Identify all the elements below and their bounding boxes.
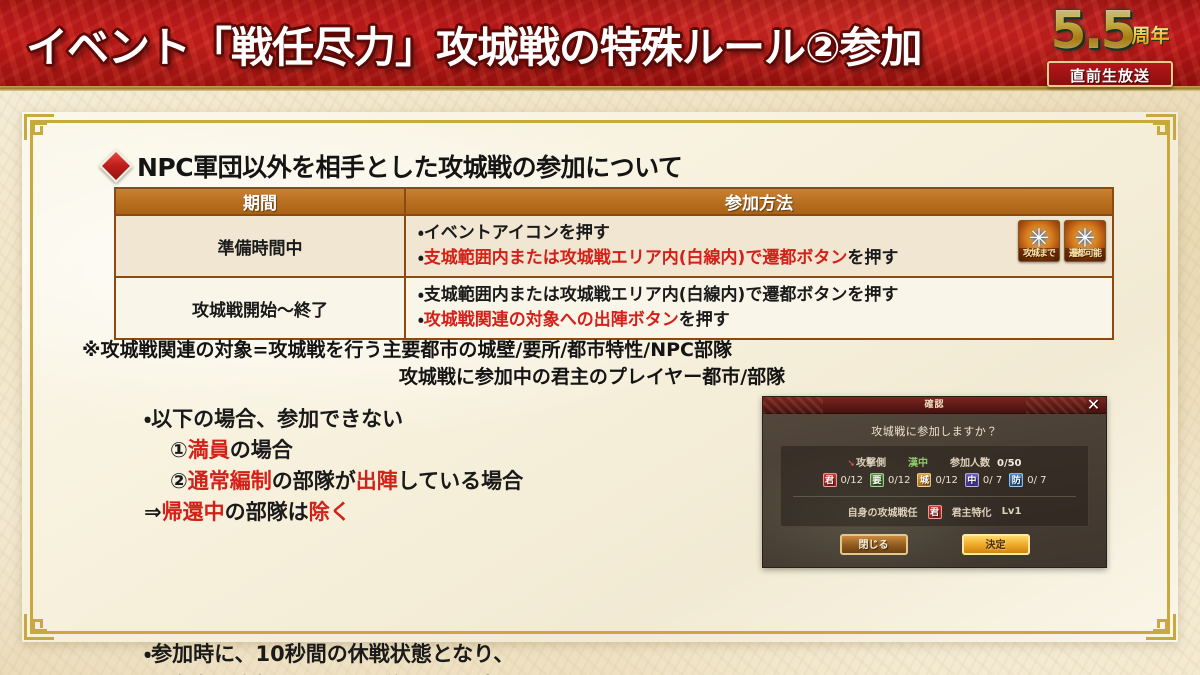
attack-side-group: ➘攻撃側: [847, 454, 886, 469]
frame-corner-top-left: [24, 114, 58, 144]
table-cell-method: ・イベントアイコンを押す・支城範囲内または攻城戦エリア内(白線内)で遷都ボタンを…: [405, 215, 1113, 277]
text-segment: 帰還中: [162, 500, 225, 524]
frame-corner-bottom-right: [1142, 610, 1176, 640]
text-segment: ②: [170, 469, 188, 493]
capital-move-ok-icon: ✳遷都可能: [1064, 220, 1106, 262]
table-cell-period: 準備時間中: [115, 215, 405, 277]
text-segment: ・支城範囲内または攻城戦エリア内(白線内)で遷都ボタンを押す: [418, 285, 898, 305]
table-note: ※攻城戦関連の対象=攻城戦を行う主要都市の城壁/要所/都市特性/NPC部隊 攻城…: [82, 337, 1062, 391]
dialog-stat-item: 防0/ 7: [1009, 473, 1046, 487]
table-icon-group: ✳攻城まで✳遷都可能: [1018, 220, 1106, 262]
rules-table: 期間 参加方法 準備時間中・イベントアイコンを押す・支城範囲内または攻城戦エリア…: [114, 187, 1114, 340]
text-segment: ⇒: [144, 500, 162, 524]
table-row: 準備時間中・イベントアイコンを押す・支城範囲内または攻城戦エリア内(白線内)で遷…: [115, 215, 1113, 277]
content-panel: NPC軍団以外を相手とした攻城戦の参加について 期間 参加方法 準備時間中・イベ…: [22, 112, 1178, 642]
text-segment: ・イベントアイコンを押す: [418, 223, 610, 243]
method-line: ・イベントアイコンを押す: [418, 221, 1104, 246]
text-segment: 除く: [309, 500, 351, 524]
method-line: ・攻城戦関連の対象への出陣ボタンを押す: [418, 308, 1104, 333]
role-icon: 君: [928, 505, 942, 519]
dialog-stats-row: 君0/12要0/12城0/12中0/ 7防0/ 7: [781, 473, 1088, 487]
table-cell-method: ・支城範囲内または攻城戦エリア内(白線内)で遷都ボタンを押す・攻城戦関連の対象へ…: [405, 277, 1113, 339]
page-title: イベント「戦任尽力」攻城戦の特殊ルール②参加: [26, 14, 922, 75]
text-segment: 満員: [188, 438, 230, 462]
dialog-titlebar: 確認: [763, 397, 1106, 414]
game-dialog-screenshot: 確認 ✕ 攻城戦に参加しますか？ ➘攻撃側 漢中 参加人数 0/50 君0/12…: [762, 396, 1107, 568]
section-heading: NPC軍団以外を相手とした攻城戦の参加について: [104, 148, 682, 184]
burst-glyph-icon: ✳: [1075, 225, 1096, 250]
stat-type-icon: 中: [965, 473, 979, 487]
text-segment: 通常編制: [188, 469, 272, 493]
stat-value: 0/12: [888, 475, 910, 486]
frame-corner-top-right: [1142, 114, 1176, 144]
stat-value: 0/12: [935, 475, 957, 486]
text-segment: ・以下の場合、参加できない: [144, 407, 403, 431]
game-icon-label: 攻城まで: [1019, 248, 1059, 261]
dialog-divider: [793, 496, 1076, 497]
table-note-line-2: 攻城戦に参加中の君主のプレイヤー都市/部隊: [82, 364, 1062, 391]
table-header-method: 参加方法: [405, 188, 1113, 215]
dialog-info-box: ➘攻撃側 漢中 参加人数 0/50 君0/12要0/12城0/12中0/ 7防0…: [780, 445, 1089, 527]
method-line: ・支城範囲内または攻城戦エリア内(白線内)で遷都ボタンを押す: [418, 246, 1104, 271]
role-name: 君主特化: [952, 504, 992, 519]
stat-type-icon: 君: [823, 473, 837, 487]
role-label: 自身の攻城戦任: [848, 504, 918, 519]
anniversary-logo: 5.5周年 直前生放送: [1026, 2, 1194, 87]
text-segment: 支城範囲内または攻城戦エリア内(白線内)で遷都ボタン: [424, 248, 848, 268]
text-segment: を押す: [847, 248, 898, 268]
table-row: 攻城戦開始〜終了・支城範囲内または攻城戦エリア内(白線内)で遷都ボタンを押す・攻…: [115, 277, 1113, 339]
game-icon-label: 遷都可能: [1065, 248, 1105, 261]
role-level: Lv1: [1002, 506, 1022, 517]
dialog-title: 確認: [763, 397, 1106, 414]
anniversary-suffix: 周年: [1132, 21, 1170, 48]
dialog-summary-row: ➘攻撃側 漢中 参加人数 0/50: [781, 454, 1088, 469]
participants-value: 0/50: [997, 458, 1022, 469]
bullet-line: ①満員の場合: [122, 435, 782, 466]
bullet-line: 自身を攻撃している部隊はすべて帰還: [122, 670, 962, 675]
broadcast-badge: 直前生放送: [1047, 61, 1173, 87]
text-segment: している場合: [398, 469, 523, 493]
dialog-stat-item: 要0/12: [870, 473, 910, 487]
participants-group: 参加人数 0/50: [950, 454, 1022, 469]
header-gold-underline: [0, 86, 1200, 91]
dialog-role-row: 自身の攻城戦任 君 君主特化 Lv1: [781, 504, 1088, 519]
header-banner: イベント「戦任尽力」攻城戦の特殊ルール②参加: [0, 0, 1200, 86]
text-segment: の場合: [230, 438, 293, 462]
text-segment: 出陣: [356, 469, 398, 493]
attack-side-label: 攻撃側: [856, 458, 886, 469]
frame-corner-bottom-left: [24, 610, 58, 640]
bullet-line: ・参加時に、10秒間の休戦状態となり、: [122, 638, 962, 670]
city-name-label: 漢中: [908, 454, 928, 469]
table-cell-period: 攻城戦開始〜終了: [115, 277, 405, 339]
dialog-stat-item: 城0/12: [917, 473, 957, 487]
table-header-period: 期間: [115, 188, 405, 215]
bullet-list-lower: ・参加時に、10秒間の休戦状態となり、自身を攻撃している部隊はすべて帰還⇒NPC…: [122, 638, 962, 675]
table-body: 準備時間中・イベントアイコンを押す・支城範囲内または攻城戦エリア内(白線内)で遷…: [115, 215, 1113, 339]
stat-value: 0/12: [841, 475, 863, 486]
diamond-icon: [99, 149, 133, 183]
table-note-line-1: ※攻城戦関連の対象=攻城戦を行う主要都市の城壁/要所/都市特性/NPC部隊: [82, 339, 732, 361]
text-segment: ・参加時に、10秒間の休戦状態となり、: [144, 642, 514, 666]
close-icon[interactable]: ✕: [1085, 397, 1102, 414]
bullet-line: ⇒帰還中の部隊は除く: [122, 497, 782, 528]
dialog-close-button[interactable]: 閉じる: [840, 534, 908, 555]
stat-type-icon: 要: [870, 473, 884, 487]
bullet-line: ②通常編制の部隊が出陣している場合: [122, 466, 782, 497]
text-segment: の部隊が: [272, 469, 356, 493]
anniversary-number: 5.5: [1050, 2, 1133, 60]
table-header-row: 期間 参加方法: [115, 188, 1113, 215]
text-segment: 攻城戦関連の対象への出陣ボタン: [424, 310, 679, 330]
arrow-icon: ➘: [847, 459, 855, 469]
section-heading-label: NPC軍団以外を相手とした攻城戦の参加について: [137, 148, 682, 184]
burst-glyph-icon: ✳: [1029, 225, 1050, 250]
stat-value: 0/ 7: [1027, 475, 1046, 486]
siege-until-icon: ✳攻城まで: [1018, 220, 1060, 262]
text-segment: を押す: [679, 310, 730, 330]
text-segment: の部隊は: [225, 500, 309, 524]
stat-type-icon: 防: [1009, 473, 1023, 487]
participants-label: 参加人数: [950, 458, 990, 469]
dialog-button-row: 閉じる 決定: [763, 534, 1106, 555]
bullet-list-upper: ・以下の場合、参加できない①満員の場合②通常編制の部隊が出陣している場合⇒帰還中…: [122, 404, 782, 528]
dialog-stat-item: 中0/ 7: [965, 473, 1002, 487]
stat-value: 0/ 7: [983, 475, 1002, 486]
dialog-question-text: 攻城戦に参加しますか？: [763, 423, 1106, 439]
bullet-line: ・以下の場合、参加できない: [122, 404, 782, 435]
stat-type-icon: 城: [917, 473, 931, 487]
dialog-confirm-button[interactable]: 決定: [962, 534, 1030, 555]
method-line: ・支城範囲内または攻城戦エリア内(白線内)で遷都ボタンを押す: [418, 283, 1104, 308]
dialog-stat-item: 君0/12: [823, 473, 863, 487]
text-segment: ①: [170, 438, 188, 462]
